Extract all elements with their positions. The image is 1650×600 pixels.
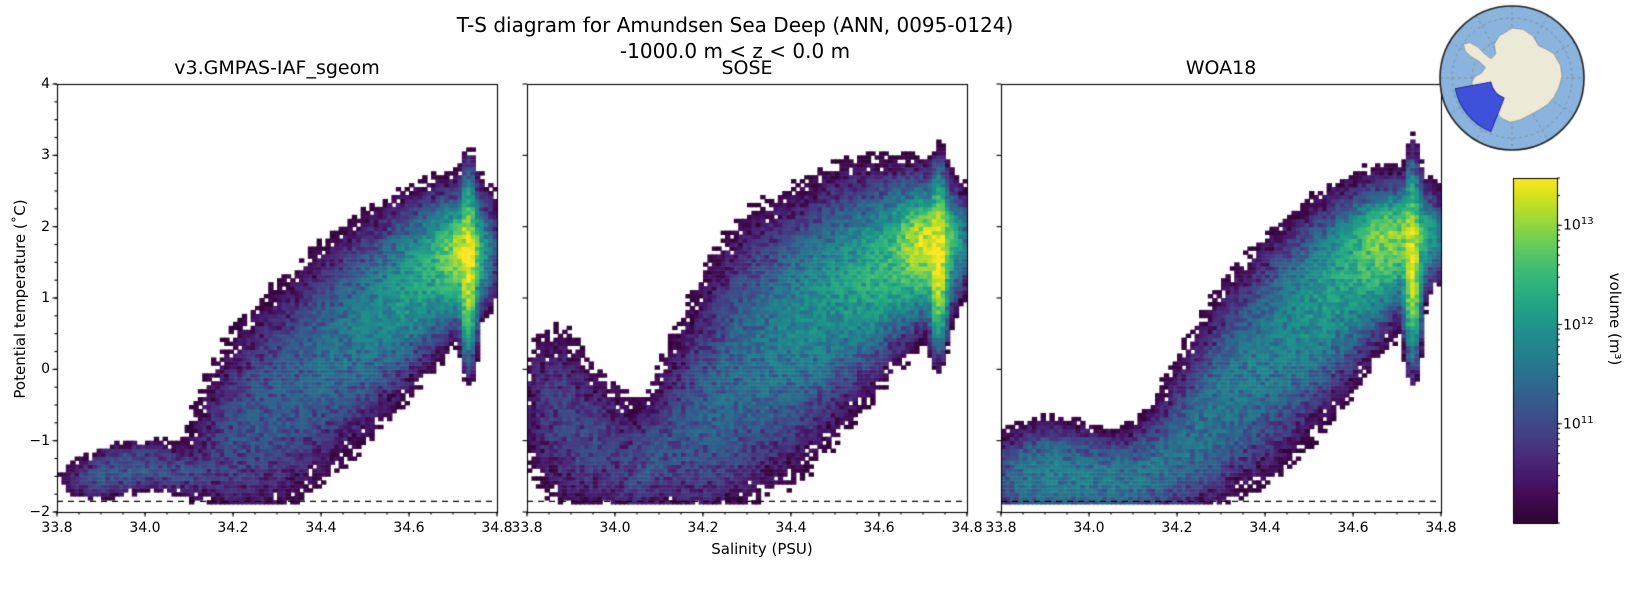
x-tick-label-panel-sose-4: 34.6 [849, 520, 909, 536]
x-tick-label-panel-woa18-5: 34.8 [1411, 520, 1471, 536]
x-tick-label-panel-model-1: 34.0 [115, 520, 175, 536]
x-tick-label-panel-sose-1: 34.0 [585, 520, 645, 536]
y-tick-label-1: 3 [16, 147, 50, 163]
x-tick-label-panel-woa18-3: 34.4 [1235, 520, 1295, 536]
y-tick-label-6: −2 [16, 504, 50, 520]
y-tick-label-0: 4 [16, 76, 50, 92]
y-tick-label-5: −1 [16, 433, 50, 449]
y-tick-label-4: 0 [16, 361, 50, 377]
x-tick-label-panel-model-2: 34.2 [203, 520, 263, 536]
x-tick-label-panel-woa18-1: 34.0 [1059, 520, 1119, 536]
colorbar-tick-2: 1013 [1563, 216, 1594, 234]
x-tick-label-panel-sose-3: 34.4 [761, 520, 821, 536]
colorbar-tick-0: 1011 [1563, 415, 1594, 433]
y-tick-label-3: 1 [16, 290, 50, 306]
ts-diagram-figure: T-S diagram for Amundsen Sea Deep (ANN, … [0, 0, 1650, 600]
y-tick-label-2: 2 [16, 219, 50, 235]
colorbar-tick-1: 1012 [1563, 316, 1594, 334]
x-tick-label-panel-woa18-0: 33.8 [971, 520, 1031, 536]
tick-label-layer: 33.834.034.234.434.634.843210−1−233.834.… [0, 0, 1650, 600]
x-tick-label-panel-sose-0: 33.8 [497, 520, 557, 536]
x-tick-label-panel-sose-2: 34.2 [673, 520, 733, 536]
x-tick-label-panel-woa18-4: 34.6 [1323, 520, 1383, 536]
x-tick-label-panel-model-3: 34.4 [291, 520, 351, 536]
x-tick-label-panel-model-0: 33.8 [27, 520, 87, 536]
x-tick-label-panel-woa18-2: 34.2 [1147, 520, 1207, 536]
x-tick-label-panel-model-4: 34.6 [379, 520, 439, 536]
